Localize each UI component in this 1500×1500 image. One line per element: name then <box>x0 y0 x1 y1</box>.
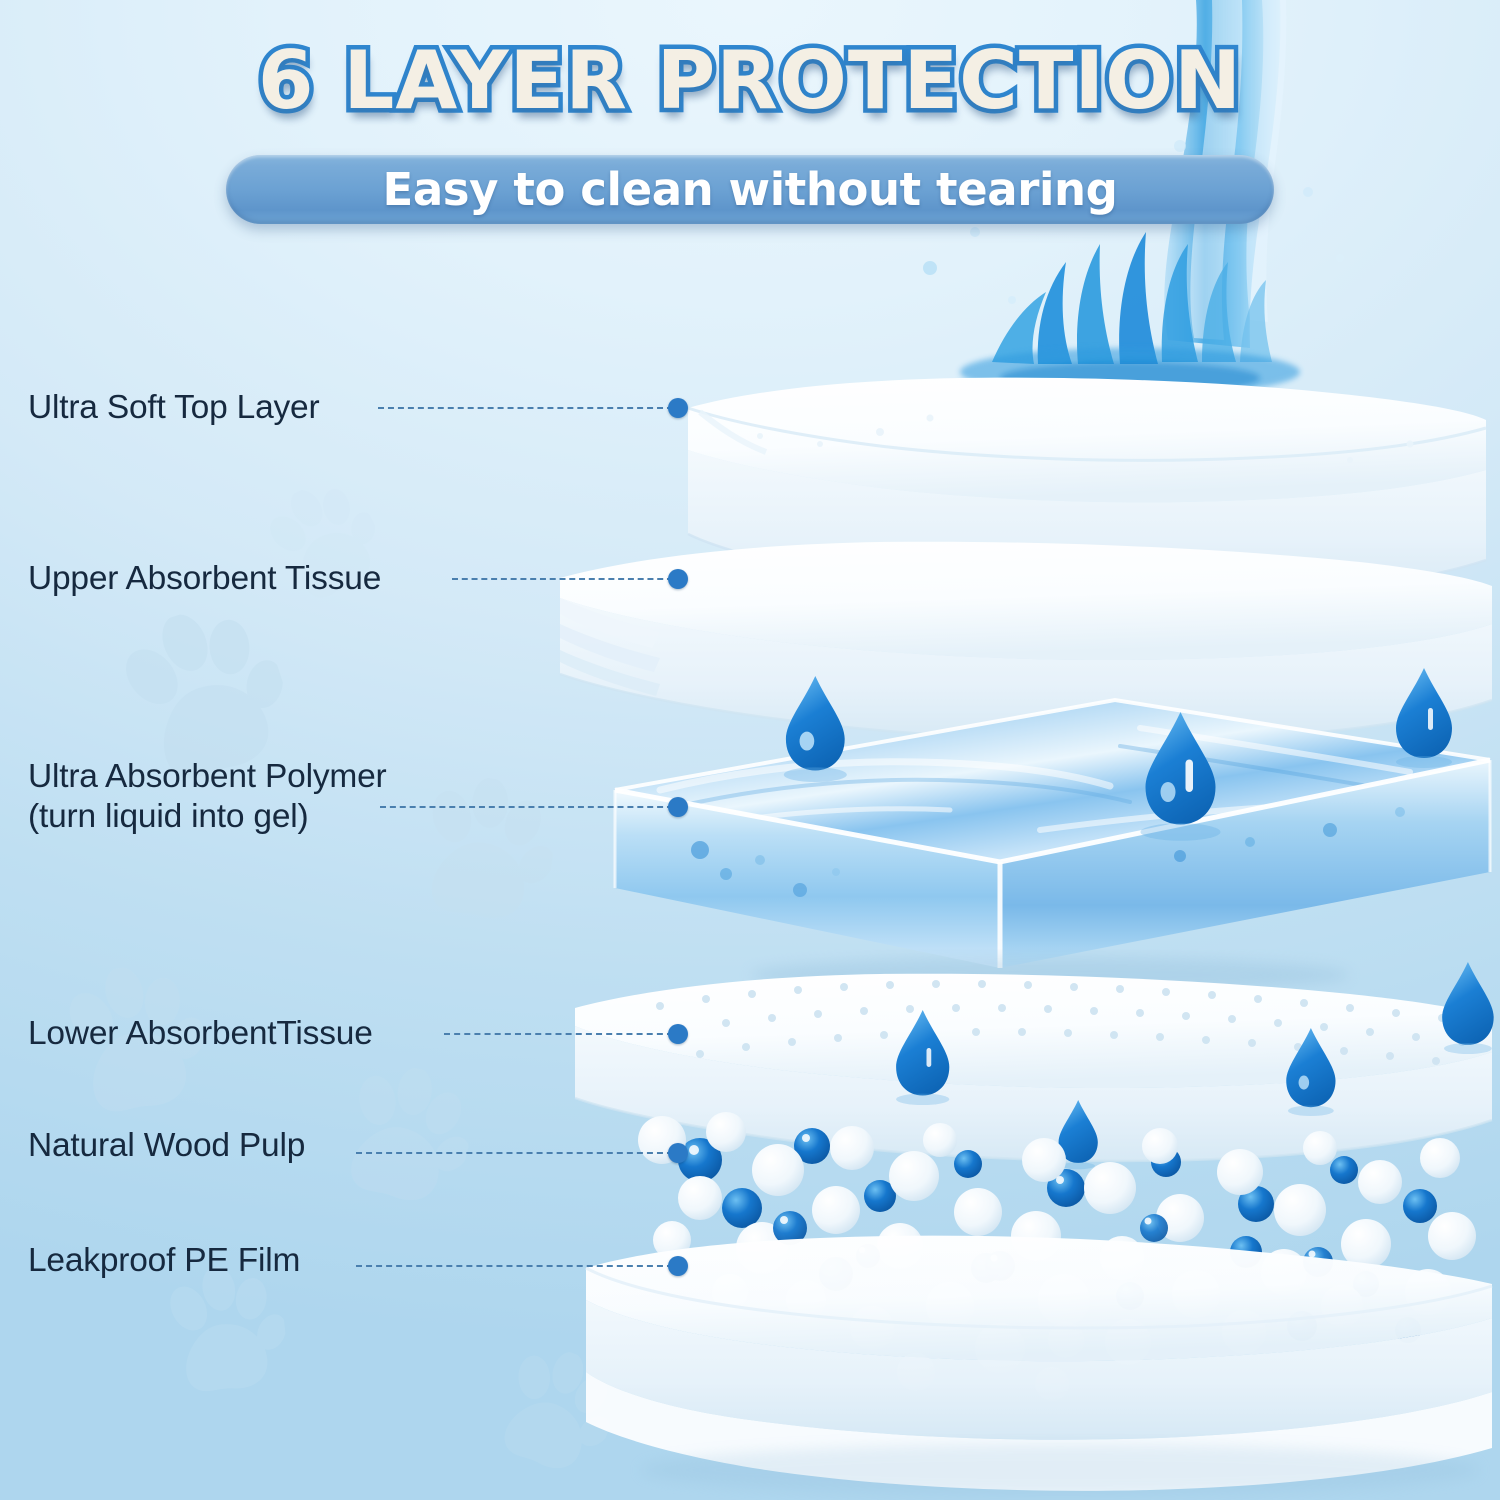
label-ultra-absorbent-polymer: Ultra Absorbent Polymer (turn liquid int… <box>28 757 386 837</box>
subtitle-banner: Easy to clean without tearing <box>0 155 1500 224</box>
leader-dot <box>668 1256 688 1276</box>
layer-leakproof-pe-film <box>586 1236 1492 1496</box>
paw-print-icon <box>158 1261 291 1405</box>
paw-print-icon <box>408 770 562 936</box>
leader-dash <box>356 1152 673 1154</box>
leader-dash <box>444 1033 673 1035</box>
leader-line-ultra-absorbent-polymer <box>380 806 688 808</box>
label-leakproof-pe-film: Leakproof PE Film <box>28 1241 300 1281</box>
subtitle-text: Easy to clean without tearing <box>382 163 1117 216</box>
leader-dash <box>356 1265 673 1267</box>
label-natural-wood-pulp: Natural Wood Pulp <box>28 1126 305 1166</box>
leader-line-lower-absorbent-tissue <box>444 1033 688 1035</box>
label-text: Leakproof PE Film <box>28 1242 300 1279</box>
page-title: 6 LAYER PROTECTION <box>0 34 1500 127</box>
leader-dot <box>668 569 688 589</box>
label-lower-absorbent-tissue: Lower AbsorbentTissue <box>28 1014 373 1054</box>
leader-dash <box>452 578 673 580</box>
leader-line-upper-absorbent-tissue <box>452 578 688 580</box>
label-text: Ultra Soft Top Layer <box>28 389 319 426</box>
leader-dot <box>668 1143 688 1163</box>
leader-dot <box>668 797 688 817</box>
leader-line-natural-wood-pulp <box>356 1152 688 1154</box>
layer-ultra-absorbent-polymer <box>615 700 1490 993</box>
label-text-line1: Ultra Absorbent Polymer <box>28 757 386 797</box>
label-text: Natural Wood Pulp <box>28 1127 305 1164</box>
paw-print-icon <box>326 1054 484 1221</box>
label-text: Lower AbsorbentTissue <box>28 1015 373 1052</box>
label-text-line2: (turn liquid into gel) <box>28 797 386 837</box>
subtitle-pill: Easy to clean without tearing <box>226 155 1274 224</box>
layer-natural-wood-pulp <box>638 1112 1476 1401</box>
leader-line-ultra-soft-top-layer <box>378 407 688 409</box>
layer-ultra-soft-top <box>688 378 1486 599</box>
leader-dash <box>380 806 673 808</box>
leader-dot <box>668 1024 688 1044</box>
leader-dot <box>668 398 688 418</box>
layer-lower-absorbent-tissue <box>575 974 1492 1161</box>
water-droplets-upper <box>784 668 1452 841</box>
label-text: Upper Absorbent Tissue <box>28 560 381 597</box>
water-droplets-lower <box>896 962 1494 1169</box>
infographic-canvas: 6 LAYER PROTECTION 6 LAYER PROTECTION Ea… <box>0 0 1500 1500</box>
leader-line-leakproof-pe-film <box>356 1265 688 1267</box>
layer-upper-absorbent-tissue <box>560 542 1492 741</box>
label-ultra-soft-top-layer: Ultra Soft Top Layer <box>28 388 319 428</box>
leader-dash <box>378 407 673 409</box>
label-upper-absorbent-tissue: Upper Absorbent Tissue <box>28 559 381 599</box>
paw-print-icon <box>481 1335 629 1490</box>
